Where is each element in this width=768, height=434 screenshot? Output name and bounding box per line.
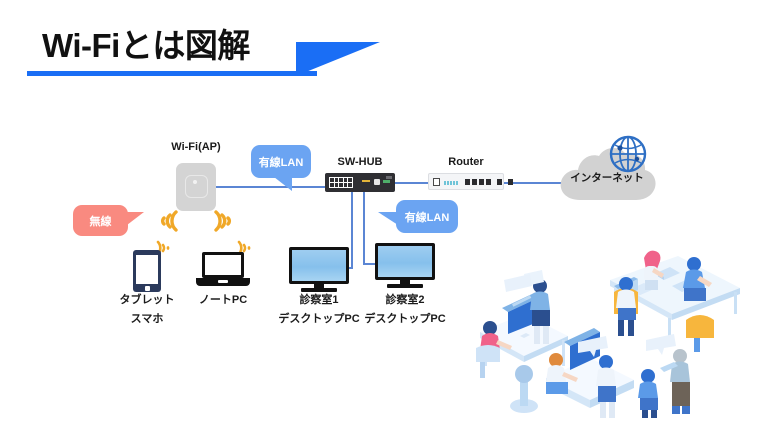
- tablet-screen: [136, 255, 158, 284]
- wifi-ap-led-dot: [193, 180, 197, 184]
- wifi-ap-inner-frame: [185, 175, 208, 198]
- tablet-home-button: [145, 286, 150, 291]
- internet-label: インターネット: [552, 170, 662, 185]
- callout-wired-lan-2: 有線LAN: [396, 200, 458, 233]
- desktop-2-stand-foot: [387, 284, 423, 288]
- desktop-1-screen: [292, 250, 346, 281]
- link-hub-to-router: [394, 182, 430, 184]
- tablet-label-line2: スマホ: [107, 312, 187, 327]
- desktop-1-stand-foot: [301, 288, 337, 292]
- page-title: Wi-Fiとは図解: [42, 24, 250, 68]
- callout-wired-lan-1: 有線LAN: [251, 145, 311, 178]
- internet-cloud-group: インターネット: [552, 138, 662, 208]
- callout-wireless-tail: [127, 212, 144, 225]
- sw-hub-port-grid: [329, 177, 353, 188]
- router-device[interactable]: [428, 173, 504, 190]
- title-underline: [27, 71, 317, 76]
- title-block: Wi-Fiとは図解: [0, 0, 768, 95]
- desktop-1-label-line2: デスクトップPC: [269, 312, 369, 327]
- wifi-wave-ap-left: [152, 207, 180, 235]
- office-illustration: [468, 228, 768, 418]
- desktop-2-screen: [378, 246, 432, 277]
- sw-hub-led-green: [383, 180, 390, 183]
- router-front-icon: [433, 178, 440, 186]
- link-hub-to-desktop-2-vertical: [363, 192, 365, 264]
- callout-wired-lan-2-text: 有線LAN: [405, 209, 450, 225]
- tablet-device[interactable]: [133, 250, 161, 292]
- tablet-label-line1: タブレット: [107, 293, 187, 308]
- router-label: Router: [416, 155, 516, 170]
- slide-canvas: Wi-Fiとは図解 Wi-Fi(AP): [0, 0, 768, 434]
- desktop-1-monitor[interactable]: [289, 247, 349, 295]
- notebook-device[interactable]: [196, 252, 250, 290]
- callout-wired-lan-2-tail: [378, 212, 398, 225]
- desktop-1-label-line1: 診察室1: [279, 293, 359, 308]
- sw-hub-device[interactable]: [325, 173, 395, 192]
- sw-hub-port-single: [374, 179, 380, 185]
- callout-wired-lan-1-tail: [274, 177, 292, 191]
- notebook-trackpad: [218, 280, 228, 283]
- sw-hub-led-yellow: [362, 180, 370, 182]
- callout-wireless: 無線: [73, 205, 128, 236]
- title-triangle-accent: [296, 42, 380, 76]
- callout-wireless-text: 無線: [90, 213, 112, 229]
- link-ap-to-hub: [216, 186, 326, 188]
- wifi-ap-label: Wi-Fi(AP): [148, 140, 244, 155]
- notebook-lid: [202, 252, 244, 278]
- wifi-wave-ap-right: [212, 207, 240, 235]
- desktop-2-monitor[interactable]: [375, 243, 435, 291]
- router-led-strip: [444, 181, 460, 185]
- sw-hub-badge: [386, 176, 392, 179]
- desktop-2-label-line1: 診察室2: [365, 293, 445, 308]
- link-hub-to-desktop-1-vertical: [351, 192, 353, 268]
- sw-hub-label: SW-HUB: [310, 155, 410, 170]
- wifi-ap-device[interactable]: [176, 163, 216, 211]
- office-illustration-svg: [468, 228, 768, 418]
- desktop-2-label-line2: デスクトップPC: [355, 312, 455, 327]
- notebook-screen: [205, 255, 241, 275]
- router-port-row: [465, 179, 513, 185]
- notebook-label-line1: ノートPC: [183, 293, 263, 308]
- callout-wired-lan-1-text: 有線LAN: [259, 154, 304, 170]
